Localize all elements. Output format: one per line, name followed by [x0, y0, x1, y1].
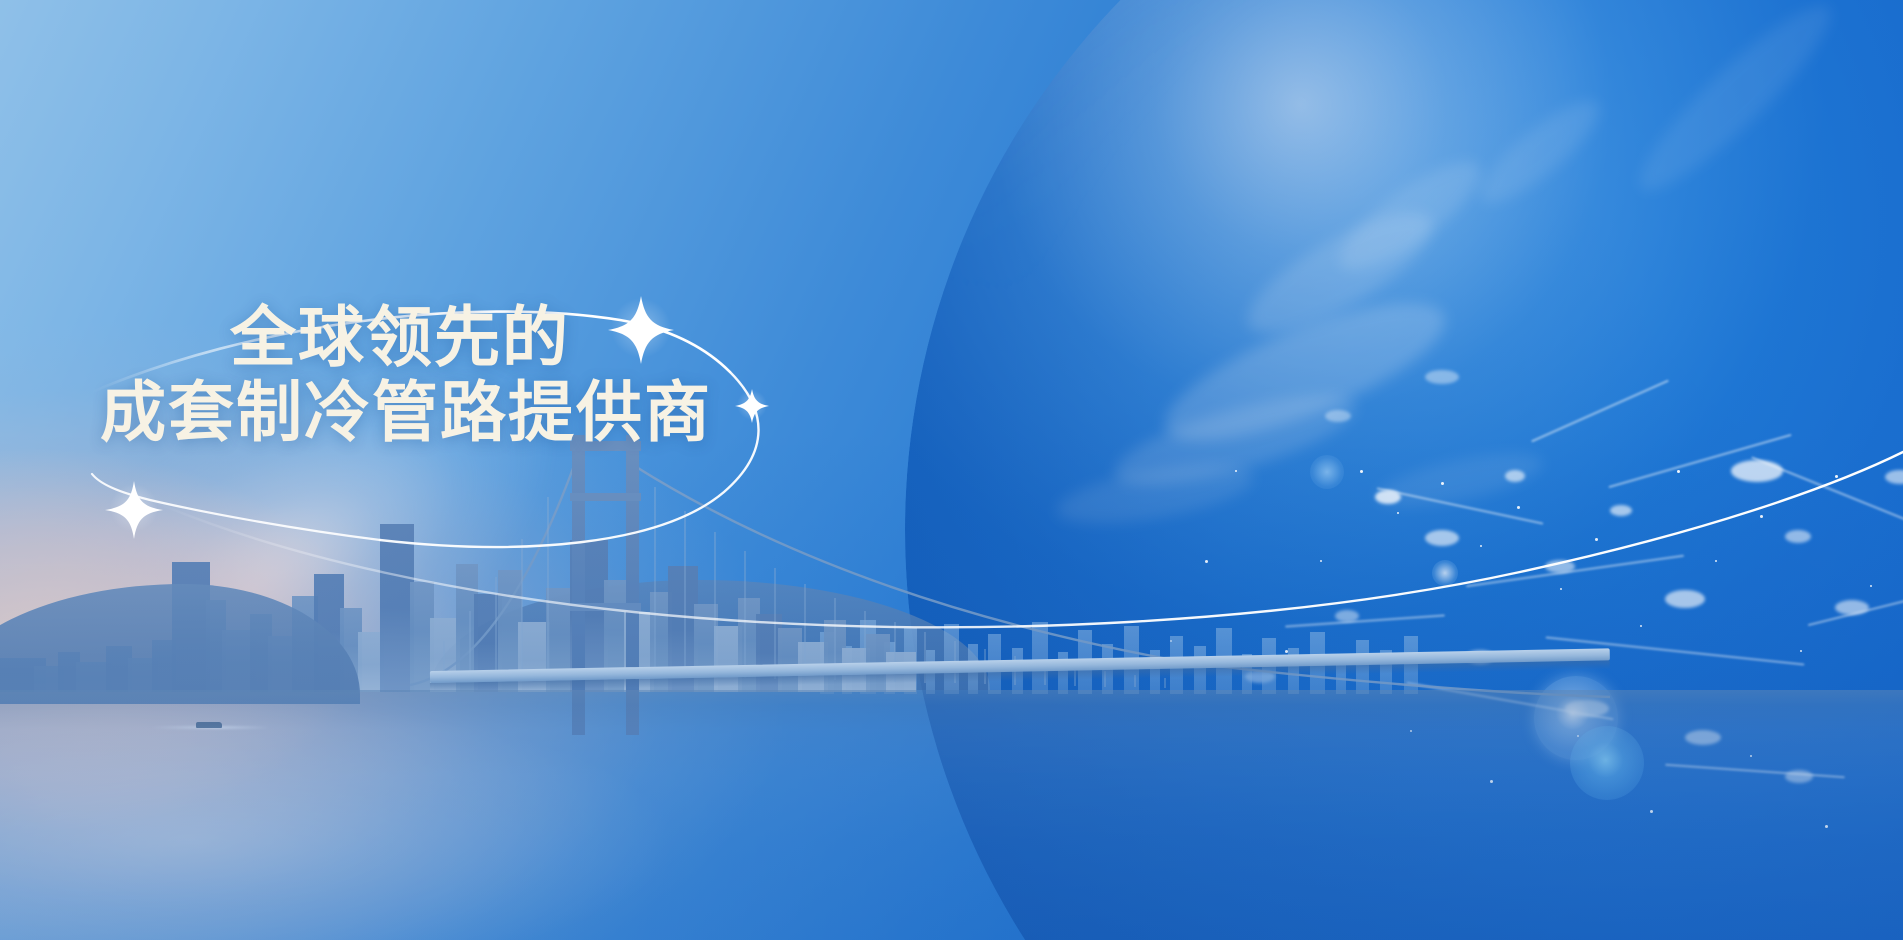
- headline-line-1: 全球领先的: [230, 300, 860, 375]
- orbit-arc-lower-sweep: [150, 452, 1903, 627]
- hero-banner: 全球领先的 成套制冷管路提供商: [0, 0, 1903, 940]
- hero-headline: 全球领先的 成套制冷管路提供商: [100, 300, 860, 450]
- orbit-swoosh-decoration: [0, 0, 1903, 940]
- headline-line-2: 成套制冷管路提供商: [100, 375, 860, 450]
- sparkle-lower-left-icon: [105, 481, 163, 539]
